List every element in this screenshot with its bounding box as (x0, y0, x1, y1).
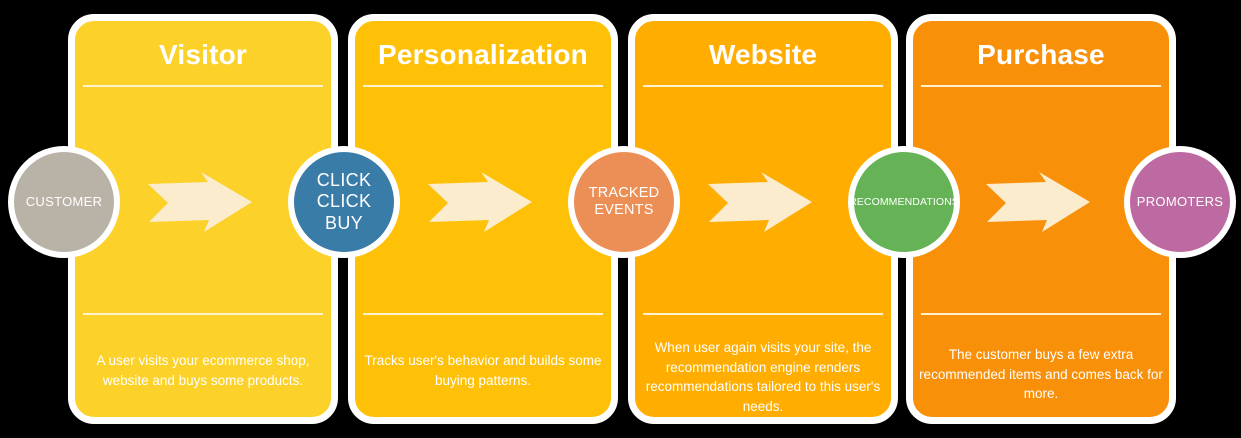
stage-description: Tracks user's behavior and builds some b… (361, 351, 605, 390)
arrow-right-icon (984, 170, 1092, 234)
divider-top (83, 85, 323, 87)
divider-bottom (643, 313, 883, 315)
node-label: RECOMMENDATIONS (849, 196, 959, 208)
node-customer[interactable]: CUSTOMER (8, 146, 120, 258)
node-tracked-events[interactable]: TRACKED EVENTS (568, 146, 680, 258)
node-label: PROMOTERS (1137, 194, 1223, 209)
divider-bottom (363, 313, 603, 315)
stage-title: Website (709, 39, 817, 71)
stage-title: Personalization (378, 39, 588, 71)
node-label: TRACKED EVENTS (589, 185, 660, 219)
stage-description: When user again visits your site, the re… (641, 338, 885, 416)
stage-description: The customer buys a few extra recommende… (919, 345, 1163, 404)
node-recommendations[interactable]: RECOMMENDATIONS (848, 146, 960, 258)
stage-title: Purchase (977, 39, 1105, 71)
divider-top (643, 85, 883, 87)
arrow-right-icon (426, 170, 534, 234)
arrow-right-icon (706, 170, 814, 234)
stage-description: A user visits your ecommerce shop, websi… (81, 351, 325, 390)
divider-top (363, 85, 603, 87)
stage-title: Visitor (159, 39, 247, 71)
divider-bottom (921, 313, 1161, 315)
divider-bottom (83, 313, 323, 315)
arrow-right-icon (146, 170, 254, 234)
divider-top (921, 85, 1161, 87)
node-click-click-buy[interactable]: CLICK CLICK BUY (288, 146, 400, 258)
node-label: CLICK CLICK BUY (317, 170, 372, 234)
flow-infographic: Visitor A user visits your ecommerce sho… (0, 0, 1241, 438)
node-label: CUSTOMER (26, 194, 103, 209)
node-promoters[interactable]: PROMOTERS (1124, 146, 1236, 258)
